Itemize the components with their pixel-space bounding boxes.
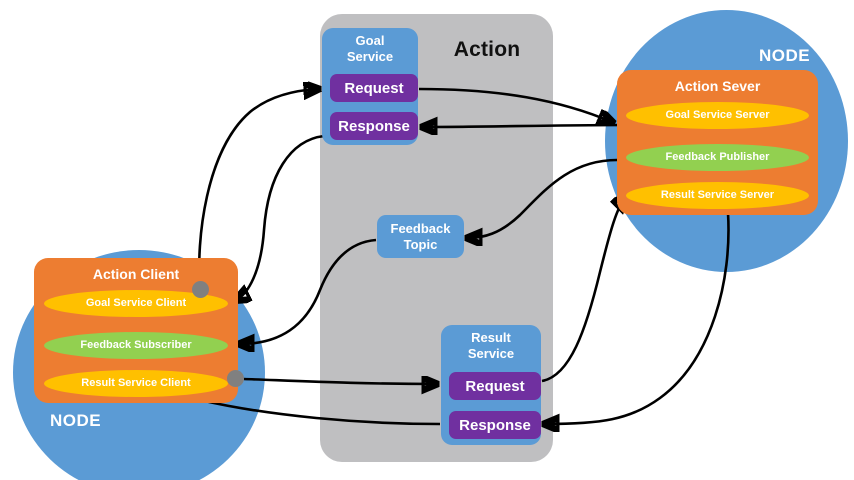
feedback-topic-box[interactable]: Feedback Topic bbox=[377, 215, 464, 258]
interface-result-service-server[interactable]: Result Service Server bbox=[626, 182, 809, 209]
action-server-title: Action Sever bbox=[617, 78, 818, 94]
goal-service-request[interactable]: Request bbox=[330, 74, 418, 102]
feedback-topic-line2: Topic bbox=[404, 237, 438, 253]
interface-result-service-client[interactable]: Result Service Client bbox=[44, 370, 228, 397]
connector-dot-goal-client bbox=[192, 281, 209, 298]
arrow-request-to-result-server bbox=[542, 197, 626, 381]
arrow-response-to-goal-client bbox=[236, 136, 324, 300]
server-node-label: NODE bbox=[759, 46, 810, 66]
action-label: Action bbox=[432, 38, 542, 62]
goal-service-response[interactable]: Response bbox=[330, 112, 418, 140]
diagram-canvas: Action NODE Action Client Goal Service C… bbox=[0, 0, 854, 480]
result-service-title-line2: Service bbox=[468, 346, 514, 361]
goal-service-title-line2: Service bbox=[347, 49, 393, 64]
goal-service-box: Goal Service Request Response bbox=[322, 28, 418, 145]
result-service-response[interactable]: Response bbox=[449, 411, 541, 439]
interface-goal-service-server[interactable]: Goal Service Server bbox=[626, 102, 809, 129]
action-server-box: Action Sever Goal Service Server Feedbac… bbox=[617, 70, 818, 215]
connector-dot-result-client bbox=[227, 370, 244, 387]
action-client-title: Action Client bbox=[34, 266, 238, 282]
result-service-title: Result Service bbox=[441, 330, 541, 363]
result-service-box: Result Service Request Response bbox=[441, 325, 541, 445]
action-client-box: Action Client Goal Service Client Feedba… bbox=[34, 258, 238, 403]
goal-service-title-line1: Goal bbox=[356, 33, 385, 48]
feedback-topic-line1: Feedback bbox=[391, 221, 451, 237]
client-node-label: NODE bbox=[50, 411, 101, 431]
result-service-request[interactable]: Request bbox=[449, 372, 541, 400]
goal-service-title: Goal Service bbox=[322, 33, 418, 66]
result-service-title-line1: Result bbox=[471, 330, 511, 345]
interface-feedback-publisher[interactable]: Feedback Publisher bbox=[626, 144, 809, 171]
interface-feedback-subscriber[interactable]: Feedback Subscriber bbox=[44, 332, 228, 359]
